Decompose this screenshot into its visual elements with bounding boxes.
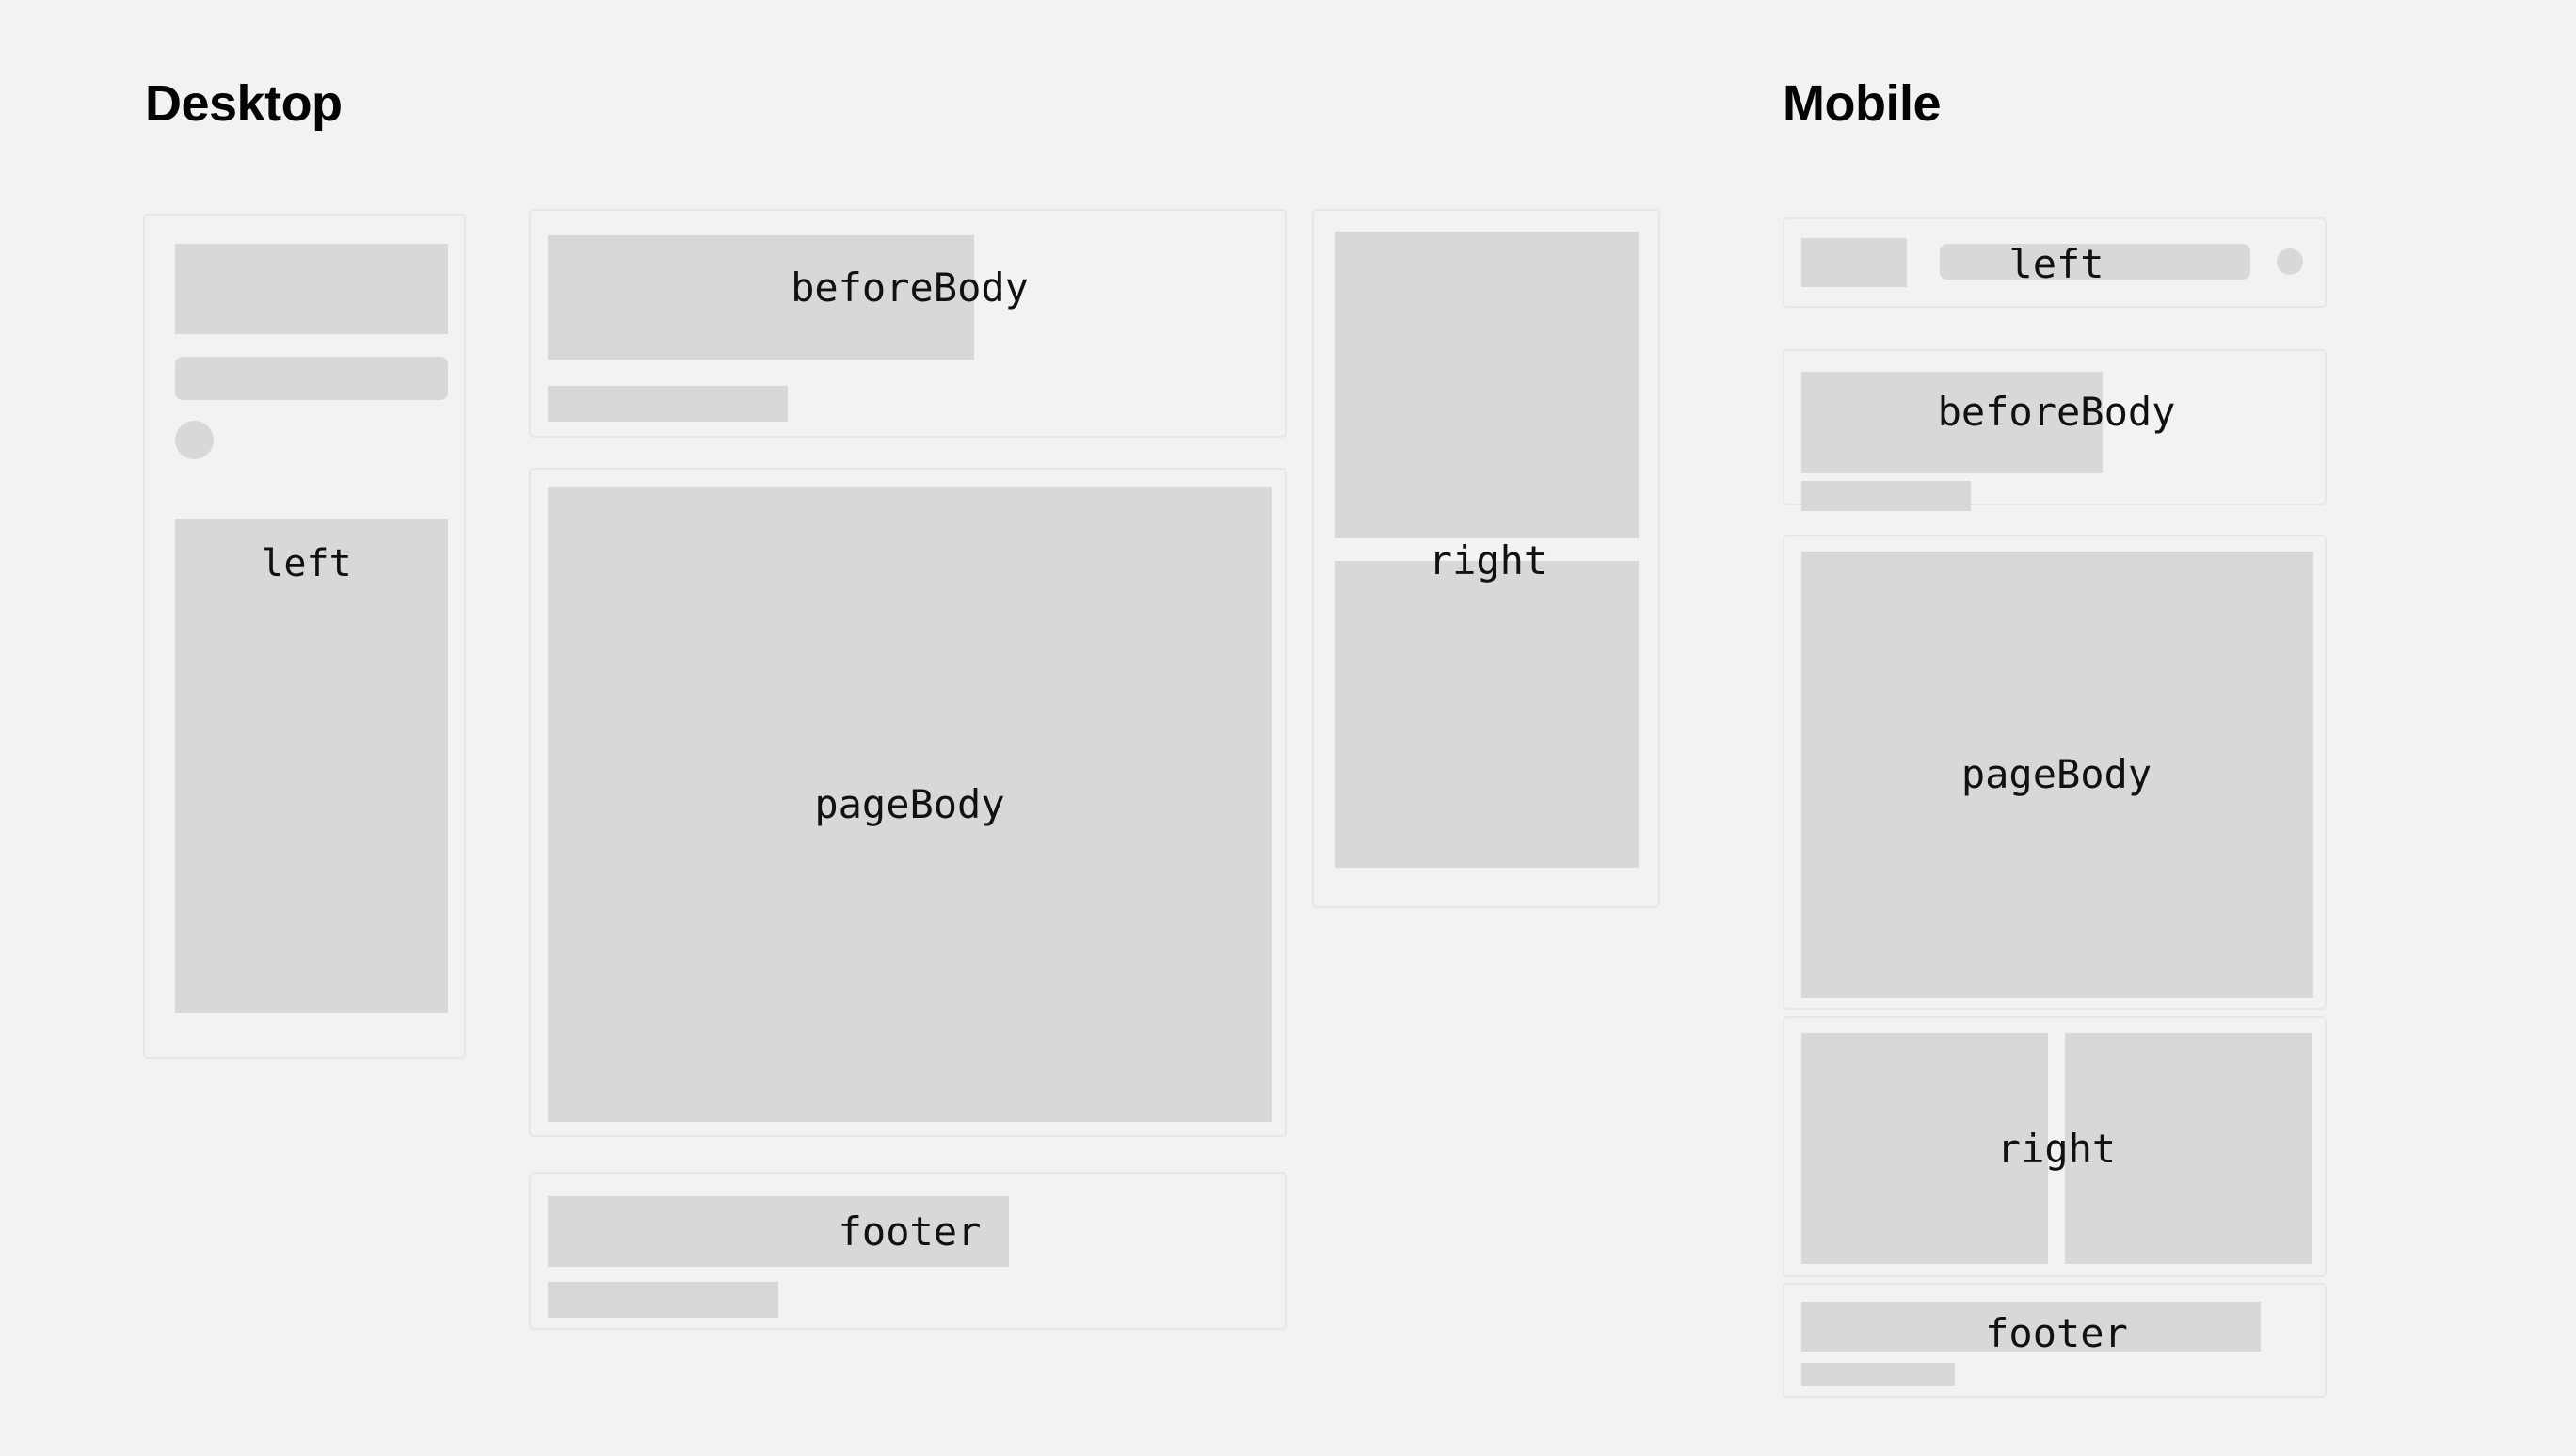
desktop-pagebody-body-block bbox=[548, 487, 1272, 1122]
mobile-left-nav-bar bbox=[1940, 244, 2250, 280]
mobile-beforebody-primary-block bbox=[1801, 372, 2103, 473]
mobile-left-logo-block bbox=[1801, 238, 1907, 287]
desktop-left-avatar-circle-icon bbox=[175, 421, 214, 459]
mobile-beforebody-caption-bar bbox=[1801, 481, 1971, 511]
desktop-footer-caption-bar bbox=[548, 1282, 778, 1318]
mobile-footer-region-panel[interactable]: footer bbox=[1783, 1283, 2327, 1398]
desktop-beforebody-primary-block bbox=[548, 235, 974, 360]
desktop-beforebody-region-panel[interactable]: beforeBody bbox=[529, 209, 1287, 438]
mobile-right-left-column-block bbox=[1801, 1033, 2048, 1264]
desktop-beforebody-caption-bar bbox=[548, 386, 788, 422]
desktop-right-lower-block bbox=[1335, 561, 1639, 868]
desktop-right-upper-block bbox=[1335, 232, 1639, 538]
mobile-right-region-panel[interactable]: right bbox=[1783, 1016, 2327, 1277]
desktop-left-header-block bbox=[175, 244, 448, 334]
desktop-right-region-panel[interactable]: right bbox=[1312, 209, 1660, 908]
mobile-footer-caption-bar bbox=[1801, 1363, 1955, 1386]
mobile-footer-primary-block bbox=[1801, 1302, 2261, 1352]
mobile-column-heading: Mobile bbox=[1783, 78, 1941, 129]
desktop-left-subtitle-bar bbox=[175, 357, 448, 400]
desktop-footer-region-panel[interactable]: footer bbox=[529, 1172, 1287, 1330]
desktop-left-region-panel[interactable]: left bbox=[143, 214, 466, 1059]
mobile-pagebody-body-block bbox=[1801, 552, 2313, 998]
mobile-left-region-panel[interactable]: left bbox=[1783, 217, 2327, 308]
mobile-right-right-column-block bbox=[2065, 1033, 2312, 1264]
mobile-left-avatar-circle-icon bbox=[2277, 248, 2303, 275]
desktop-footer-primary-block bbox=[548, 1196, 1009, 1267]
mobile-beforebody-region-panel[interactable]: beforeBody bbox=[1783, 349, 2327, 505]
desktop-left-content-block bbox=[175, 519, 448, 1013]
desktop-pagebody-region-panel[interactable]: pageBody bbox=[529, 468, 1287, 1137]
desktop-column-heading: Desktop bbox=[145, 78, 343, 129]
layout-preview-page: { "page": { "background_color": "#f2f2f2… bbox=[0, 0, 2576, 1456]
mobile-pagebody-region-panel[interactable]: pageBody bbox=[1783, 535, 2327, 1010]
